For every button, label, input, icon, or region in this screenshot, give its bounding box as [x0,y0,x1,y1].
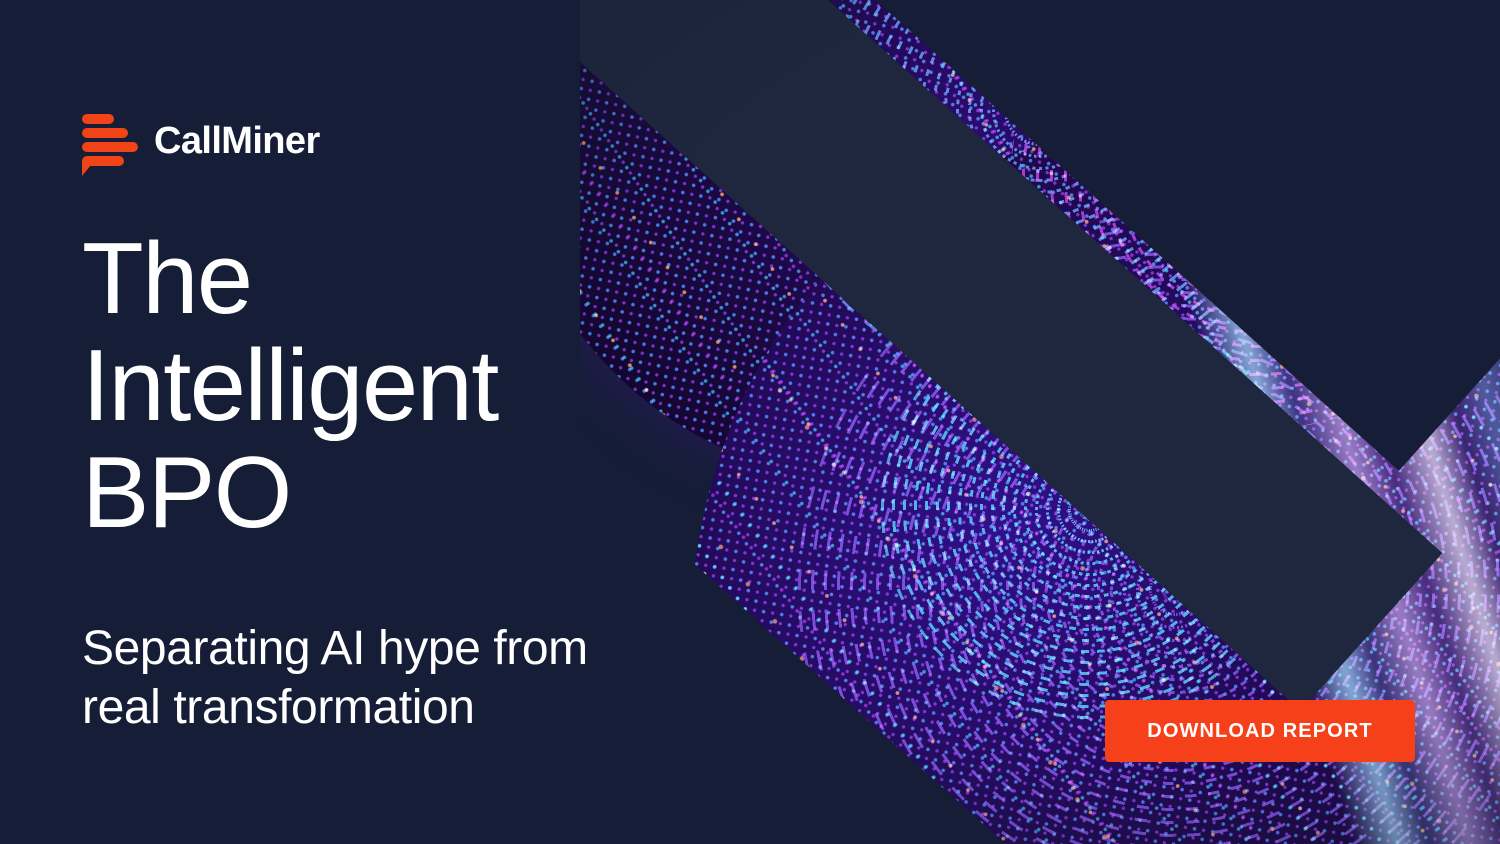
page-subtitle: Separating AI hype from real transformat… [82,620,762,737]
logo-bubble-tail [82,165,91,176]
content-column: CallMiner The Intelligent BPO Separating… [82,0,782,844]
headline-line-1: The [82,226,722,333]
poster-canvas: CallMiner The Intelligent BPO Separating… [0,0,1500,844]
subtitle-line-1: Separating AI hype from [82,620,762,679]
logo-bar-3 [82,142,138,152]
subtitle-line-2: real transformation [82,679,762,738]
brand-logo[interactable]: CallMiner [82,112,320,170]
headline-line-2: Intelligent [82,333,722,440]
headline-line-3: BPO [82,440,722,547]
page-title: The Intelligent BPO [82,226,722,547]
logo-bar-1 [82,114,114,124]
brand-wordmark: CallMiner [154,122,320,160]
logo-bar-2 [82,128,128,138]
speech-bubble-bars-icon [82,112,138,170]
download-report-button[interactable]: DOWNLOAD REPORT [1105,700,1415,762]
